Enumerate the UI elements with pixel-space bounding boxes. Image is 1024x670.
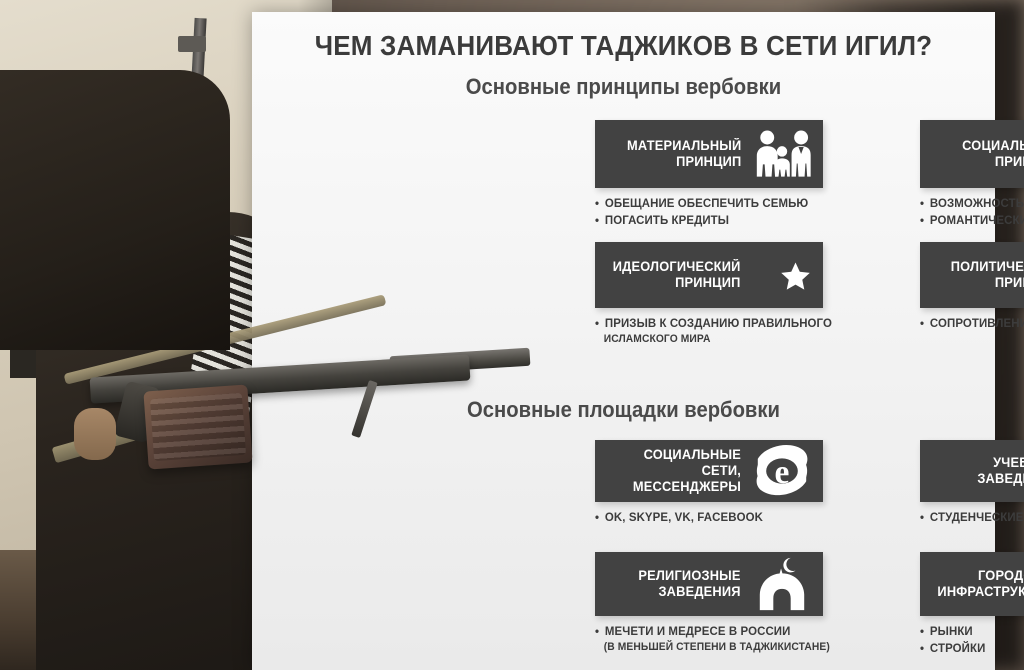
bullet-item: РЫНКИ [920, 623, 1024, 640]
bullet-item: МЕЧЕТИ И МЕДРЕСЕ В РОССИИ [595, 623, 816, 640]
block-header-bar: ГОРОДСКАЯ ИНФРАСТРУКТУРА [920, 552, 1024, 616]
block-label: ГОРОДСКАЯ ИНФРАСТРУКТУРА [938, 568, 1024, 600]
mosque-icon [749, 556, 815, 612]
crescent-star-icon [749, 247, 815, 303]
figure-robe-overlay [0, 70, 230, 350]
block-bullets: СТУДЕНЧЕСКИЕ ОБЩЕЖИТИЯ [920, 509, 1024, 526]
bullet-item: ОБЕЩАНИЕ ОБЕСПЕЧИТЬ СЕМЬЮ [595, 195, 816, 212]
infographic-root: ЧЕМ ЗАМАНИВАЮТ ТАДЖИКОВ В СЕТИ ИГИЛ? Осн… [0, 0, 1024, 670]
family-icon [749, 126, 815, 182]
block-religious-institutions[interactable]: РЕЛИГИОЗНЫЕ ЗАВЕДЕНИЯ МЕЧЕТИ И МЕДРЕСЕ В… [595, 552, 823, 655]
block-social-networks[interactable]: СОЦИАЛЬНЫЕ СЕТИ, МЕССЕНДЖЕРЫ e OK, SKYPE… [595, 440, 823, 526]
block-label: УЧЕБНЫЕ ЗАВЕДЕНИЯ [978, 455, 1024, 487]
block-bullets: МЕЧЕТИ И МЕДРЕСЕ В РОССИИ (В МЕНЬШЕЙ СТЕ… [595, 623, 823, 655]
bullet-item: ПРИЗЫВ К СОЗДАНИЮ ПРАВИЛЬНОГО [595, 315, 816, 332]
block-header-bar: РЕЛИГИОЗНЫЕ ЗАВЕДЕНИЯ [595, 552, 823, 616]
block-label: СОЦИАЛЬНЫЙ ПРИНЦИП [962, 138, 1024, 170]
internet-explorer-icon: e [749, 443, 815, 499]
block-city-infrastructure[interactable]: ГОРОДСКАЯ ИНФРАСТРУКТУРА [920, 552, 1024, 657]
block-label: РЕЛИГИОЗНЫЕ ЗАВЕДЕНИЯ [639, 568, 741, 600]
block-header-bar: ИДЕОЛОГИЧЕСКИЙ ПРИНЦИП [595, 242, 823, 308]
block-bullets: ОБЕЩАНИЕ ОБЕСПЕЧИТЬ СЕМЬЮ ПОГАСИТЬ КРЕДИ… [595, 195, 823, 229]
content-card: ЧЕМ ЗАМАНИВАЮТ ТАДЖИКОВ В СЕТИ ИГИЛ? Осн… [252, 12, 995, 670]
block-label: ИДЕОЛОГИЧЕСКИЙ ПРИНЦИП [613, 259, 741, 291]
svg-text:e: e [775, 454, 790, 491]
bullet-item: OK, SKYPE, VK, FACEBOOK [595, 509, 816, 526]
section-heading-platforms: Основные площадки вербовки [282, 397, 966, 423]
page-title: ЧЕМ ЗАМАНИВАЮТ ТАДЖИКОВ В СЕТИ ИГИЛ? [278, 30, 969, 62]
bullet-item: РОМАНТИЧЕСКИЕ ОТНОШЕНИЯ [920, 212, 1024, 229]
block-bullets: СОПРОТИВЛЕНИЕ РЕЖИМУ [920, 315, 1024, 332]
bullet-item: СТРОЙКИ [920, 640, 1024, 657]
block-header-bar: СОЦИАЛЬНЫЕ СЕТИ, МЕССЕНДЖЕРЫ e [595, 440, 823, 502]
bullet-continuation: ИСЛАМСКОГО МИРА [595, 332, 816, 347]
section-heading-principles: Основные принципы вербовки [282, 74, 966, 100]
bullet-item: ВОЗМОЖНОСТЬ ПОСТРОИТЬ СЕМЬЮ [920, 195, 1024, 212]
bullet-item: СТУДЕНЧЕСКИЕ ОБЩЕЖИТИЯ [920, 509, 1024, 526]
block-header-bar: СОЦИАЛЬНЫЙ ПРИНЦИП [920, 120, 1024, 188]
bullet-continuation: (В МЕНЬШЕЙ СТЕПЕНИ В ТАДЖИКИСТАНЕ) [595, 640, 816, 655]
block-header-bar: МАТЕРИАЛЬНЫЙ ПРИНЦИП [595, 120, 823, 188]
block-label: ПОЛИТИЧЕСКИЙ ПРИНЦИП [950, 259, 1024, 291]
main-figure-hand [74, 408, 116, 460]
block-bullets: OK, SKYPE, VK, FACEBOOK [595, 509, 823, 526]
block-social-principle[interactable]: СОЦИАЛЬНЫЙ ПРИНЦИП ВОЗМОЖНОСТЬ ПОСТРОИТЬ… [920, 120, 1024, 229]
bullet-item: ПОГАСИТЬ КРЕДИТЫ [595, 212, 816, 229]
bullet-item: СОПРОТИВЛЕНИЕ РЕЖИМУ [920, 315, 1024, 332]
block-material-principle[interactable]: МАТЕРИАЛЬНЫЙ ПРИНЦИП ОБЕЩАНИЕ ОБЕСПЕЧИТЬ… [595, 120, 823, 229]
block-bullets: РЫНКИ СТРОЙКИ [920, 623, 1024, 657]
block-political-principle[interactable]: ПОЛИТИЧЕСКИЙ ПРИНЦИП СОПРОТИВЛЕНИЕ РЕЖИМ… [920, 242, 1024, 332]
block-education[interactable]: УЧЕБНЫЕ ЗАВЕДЕНИЯ СТУДЕНЧЕСКИЕ ОБЩЕЖИТИЯ [920, 440, 1024, 526]
block-label: СОЦИАЛЬНЫЕ СЕТИ, МЕССЕНДЖЕРЫ [602, 447, 741, 495]
block-label: МАТЕРИАЛЬНЫЙ ПРИНЦИП [627, 138, 741, 170]
block-header-bar: ПОЛИТИЧЕСКИЙ ПРИНЦИП [920, 242, 1024, 308]
block-ideological-principle[interactable]: ИДЕОЛОГИЧЕСКИЙ ПРИНЦИП ПРИЗЫВ К СОЗДАНИЮ… [595, 242, 823, 347]
rifle-sight [178, 36, 206, 52]
block-header-bar: УЧЕБНЫЕ ЗАВЕДЕНИЯ [920, 440, 1024, 502]
block-bullets: ПРИЗЫВ К СОЗДАНИЮ ПРАВИЛЬНОГО ИСЛАМСКОГО… [595, 315, 823, 347]
block-bullets: ВОЗМОЖНОСТЬ ПОСТРОИТЬ СЕМЬЮ РОМАНТИЧЕСКИ… [920, 195, 1024, 229]
